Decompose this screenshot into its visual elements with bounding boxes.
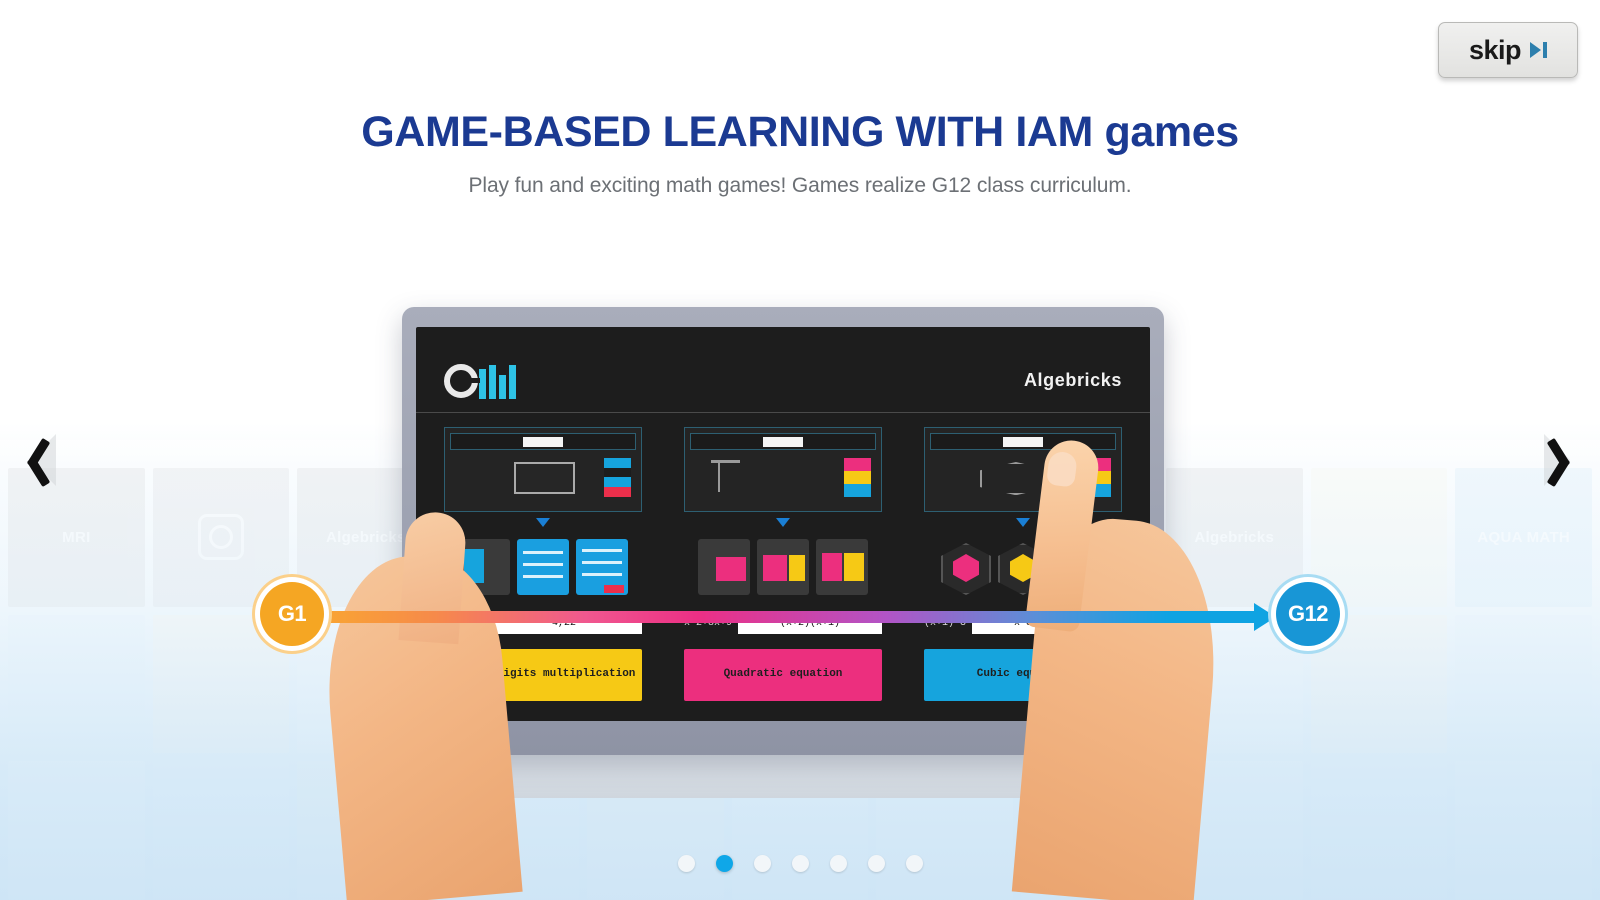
pagination-dot[interactable]	[792, 855, 809, 872]
game-thumbnails	[684, 533, 882, 595]
carousel-tile-label: Algebricks	[1194, 529, 1274, 546]
cube-icon-pink[interactable]	[941, 543, 991, 595]
game-title: Algebricks	[1024, 370, 1122, 391]
thumbnail[interactable]	[816, 539, 868, 595]
grade-progress-bar	[322, 611, 1262, 623]
carousel-tile-label: Algebricks	[326, 529, 406, 546]
carousel-column	[153, 468, 290, 900]
pagination-dot[interactable]	[830, 855, 847, 872]
grade-progress-arrowhead	[1254, 603, 1276, 631]
pagination-dot[interactable]	[678, 855, 695, 872]
pagination-dot[interactable]	[868, 855, 885, 872]
gear-icon	[198, 514, 244, 560]
carousel-next-button[interactable]	[1524, 424, 1596, 496]
carousel-tile[interactable]	[1311, 468, 1448, 607]
skip-button[interactable]: skip	[1438, 22, 1578, 78]
app-header: Algebricks	[416, 349, 1150, 413]
chevron-left-icon	[27, 438, 53, 482]
carousel-column: MRI	[8, 468, 145, 900]
carousel-tile[interactable]	[1455, 761, 1592, 900]
pagination-dot[interactable]	[716, 855, 733, 872]
grade-badge-start[interactable]: G1	[260, 582, 324, 646]
carousel-tile-label: MRI	[62, 529, 90, 546]
onboarding-slide: MRI Algebricks	[0, 0, 1600, 900]
game-column-quadratic: x^2+8x+9 (x+2)(x+1) Quadratic equation	[684, 427, 882, 701]
carousel-tile[interactable]	[1311, 761, 1448, 900]
thumbnail[interactable]	[757, 539, 809, 595]
carousel-column	[1311, 468, 1448, 900]
fingernail-detail	[1046, 450, 1078, 487]
carousel-tile[interactable]	[8, 761, 145, 900]
color-picker-strip	[844, 458, 871, 497]
arrow-down-icon	[776, 518, 790, 527]
page-subtitle: Play fun and exciting math games! Games …	[0, 174, 1600, 198]
pagination-dot[interactable]	[754, 855, 771, 872]
arrow-down-icon	[1016, 518, 1030, 527]
grade-badge-end[interactable]: G12	[1276, 582, 1340, 646]
game-preview[interactable]	[444, 427, 642, 512]
iam-logo-icon	[444, 363, 516, 399]
thumbnail[interactable]	[698, 539, 750, 595]
grade-progress-rail: G1 G12	[300, 608, 1300, 626]
page-title: GAME-BASED LEARNING WITH IAM games	[0, 108, 1600, 157]
carousel-column: AQUA MATH	[1455, 468, 1592, 900]
game-preview[interactable]	[684, 427, 882, 512]
game-button-quadratic[interactable]: Quadratic equation	[684, 649, 882, 701]
carousel-tile-label: AQUA MATH	[1477, 529, 1570, 546]
thumbnail[interactable]	[576, 539, 628, 595]
color-picker-strip	[604, 458, 631, 497]
pagination-dot[interactable]	[906, 855, 923, 872]
pagination-dots	[0, 855, 1600, 872]
carousel-prev-button[interactable]	[4, 424, 76, 496]
chevron-right-icon	[1547, 438, 1573, 482]
carousel-tile[interactable]	[153, 761, 290, 900]
carousel-tile[interactable]	[8, 615, 145, 754]
carousel-tile[interactable]	[1455, 615, 1592, 754]
arrow-down-icon	[536, 518, 550, 527]
carousel-tile[interactable]	[153, 468, 290, 607]
game-panels: 18x247 4,22 Double digits multiplication	[444, 427, 1122, 701]
skip-forward-icon	[1530, 42, 1547, 58]
thumbnail[interactable]	[517, 539, 569, 595]
skip-button-label: skip	[1469, 35, 1521, 66]
